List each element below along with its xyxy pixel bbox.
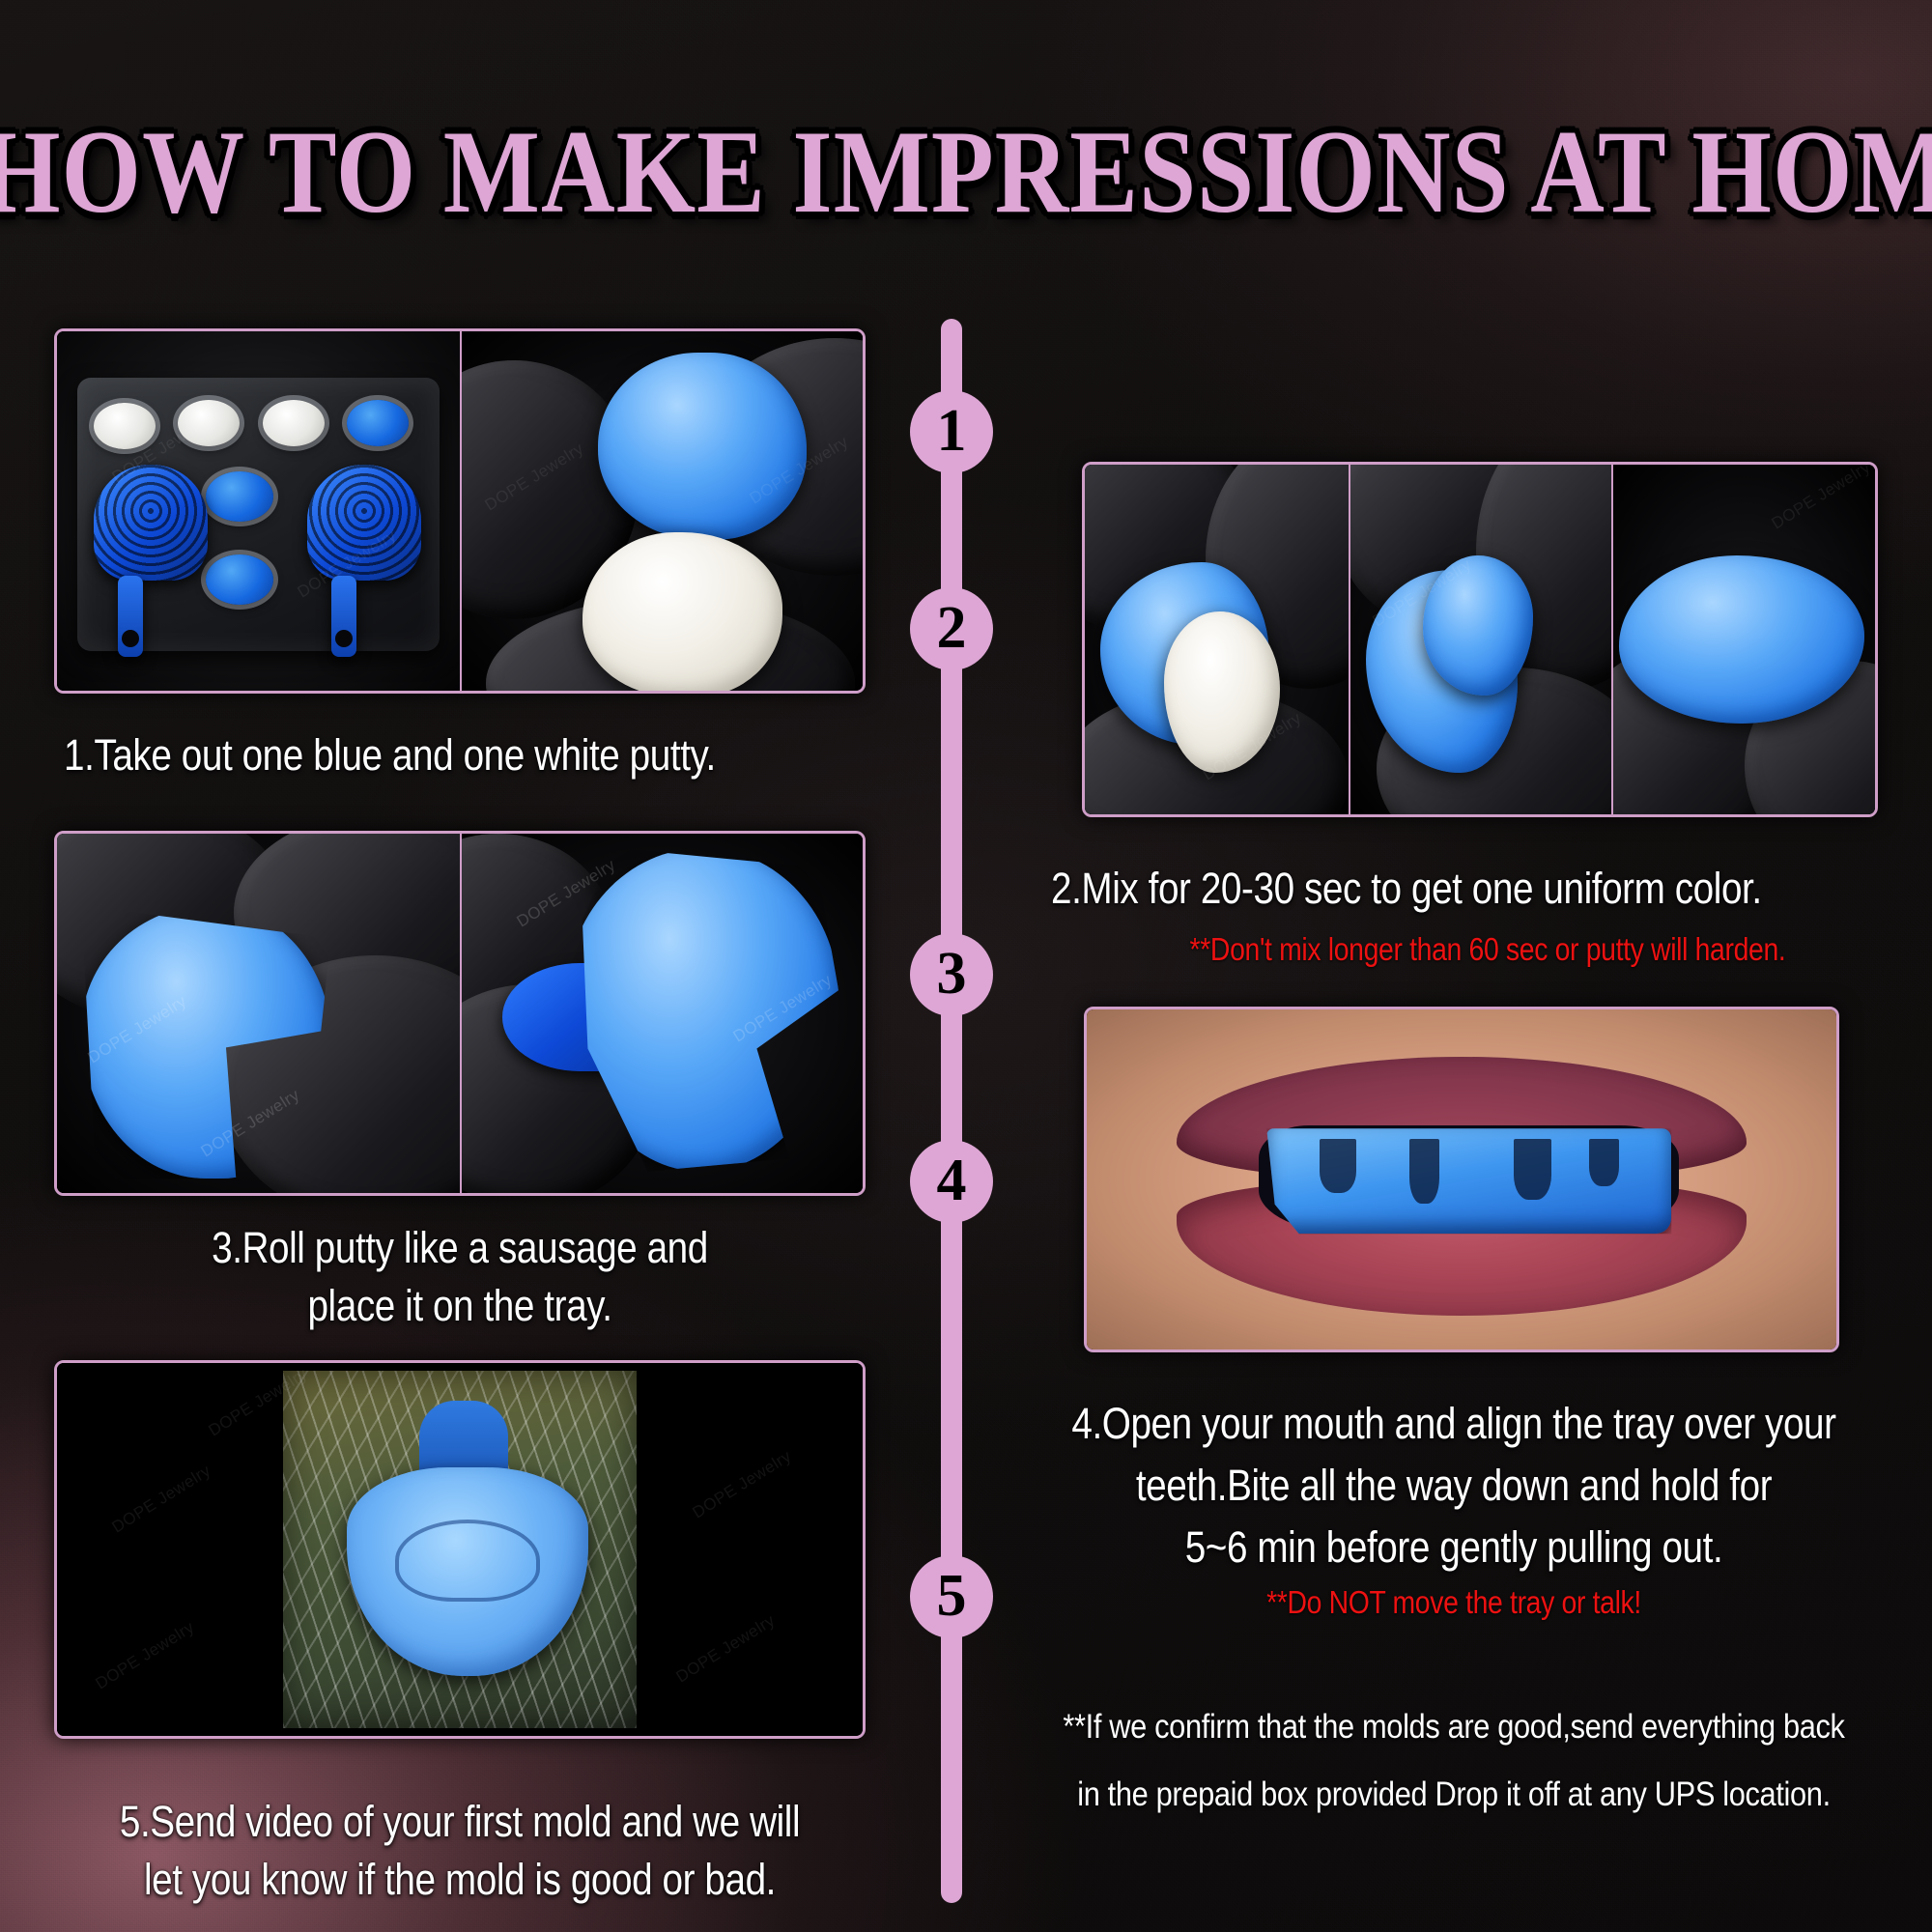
infographic-poster: HOW TO MAKE IMPRESSIONS AT HOME 1 2 3 4 … (0, 0, 1932, 1932)
step-timeline-spine (941, 319, 962, 1903)
step-2-warning: **Don't mix longer than 60 sec or putty … (1072, 929, 1903, 971)
step-marker-1: 1 (910, 390, 993, 473)
step-marker-5: 5 (910, 1555, 993, 1638)
step-3-caption-line-2: place it on the tray. (111, 1277, 809, 1334)
step-3-photo-frame: DOPE Jewelry DOPE Jewelry DOPE Jewelry D… (54, 831, 866, 1196)
step-4-caption-line-1: 4.Open your mouth and align the tray ove… (1042, 1395, 1864, 1452)
step-1-photo-frame: DOPE Jewelry DOPE Jewelry DOPE Jewelry D… (54, 328, 866, 694)
step-marker-4: 4 (910, 1140, 993, 1223)
step-3-caption-line-1: 3.Roll putty like a sausage and (111, 1219, 809, 1276)
step-5-caption-line-1: 5.Send video of your first mold and we w… (95, 1793, 826, 1850)
step-4-caption-line-2: teeth.Bite all the way down and hold for (1042, 1457, 1864, 1514)
photo-kneading-blue-white-putty: DOPE Jewelry (1085, 465, 1349, 814)
photo-finished-mold-in-bag: DOPE Jewelry DOPE Jewelry DOPE Jewelry D… (57, 1363, 863, 1736)
step-5-photo-frame: DOPE Jewelry DOPE Jewelry DOPE Jewelry D… (54, 1360, 866, 1739)
photo-blue-and-white-putty-balls: DOPE Jewelry DOPE Jewelry (460, 331, 863, 691)
photo-kit-tray-blister-pack: DOPE Jewelry DOPE Jewelry (57, 331, 460, 691)
step-2-caption: 2.Mix for 20-30 sec to get one uniform c… (1051, 860, 1815, 917)
photo-uniform-blue-putty-log: DOPE Jewelry (1611, 465, 1875, 814)
photo-folding-putty: DOPE Jewelry (1349, 465, 1612, 814)
photo-putty-horseshoe-in-hand: DOPE Jewelry DOPE Jewelry (57, 834, 460, 1193)
page-title: HOW TO MAKE IMPRESSIONS AT HOME (0, 104, 1932, 240)
step-4-photo-frame (1084, 1007, 1839, 1352)
photo-putty-sausage-on-tray: DOPE Jewelry DOPE Jewelry (460, 834, 863, 1193)
footer-note-line-2: in the prepaid box provided Drop it off … (1033, 1764, 1874, 1827)
step-marker-3: 3 (910, 933, 993, 1016)
step-1-caption: 1.Take out one blue and one white putty. (64, 726, 795, 783)
step-marker-2: 2 (910, 587, 993, 670)
step-5-caption-line-2: let you know if the mold is good or bad. (95, 1851, 826, 1908)
step-4-warning: **Do NOT move the tray or talk! (1042, 1582, 1864, 1624)
photo-mouth-with-tray (1087, 1009, 1836, 1350)
step-2-photo-frame: DOPE Jewelry DOPE Jewelry DOPE Jewelry (1082, 462, 1878, 817)
footer-note-line-1: **If we confirm that the molds are good,… (1033, 1696, 1874, 1759)
step-4-caption-line-3: 5~6 min before gently pulling out. (1042, 1519, 1864, 1576)
